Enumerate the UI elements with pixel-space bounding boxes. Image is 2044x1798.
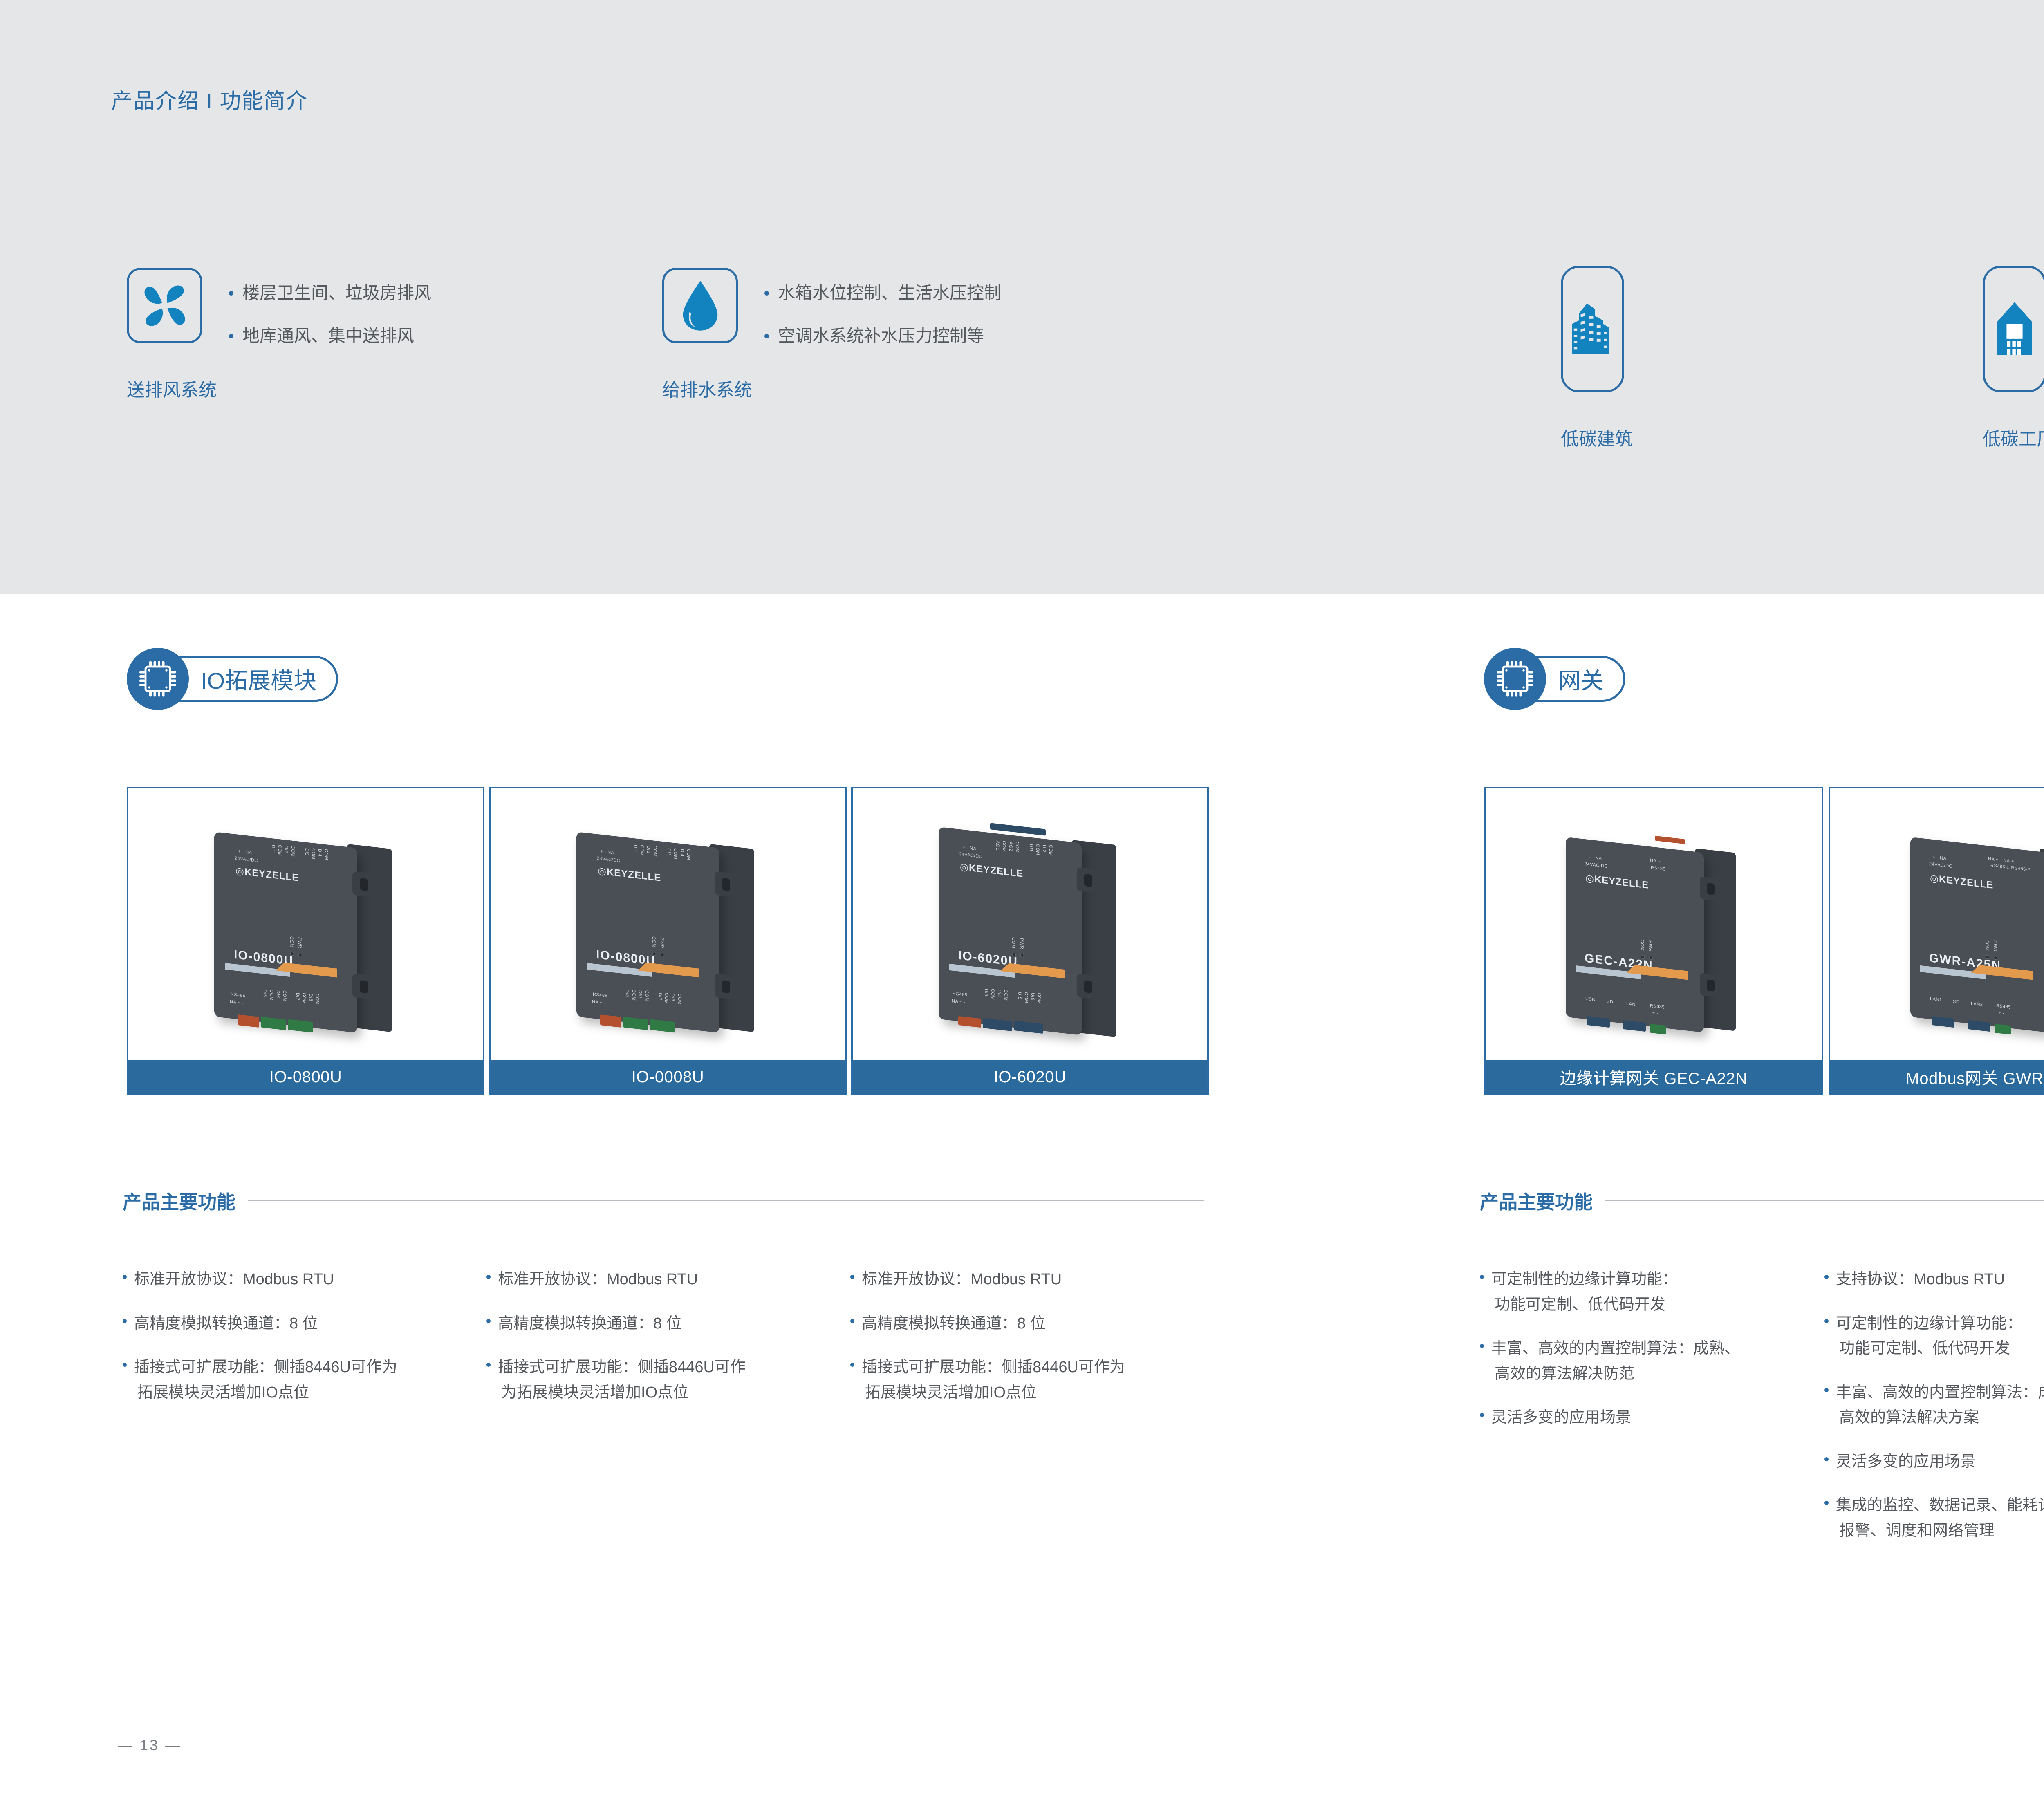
feature-item: 支持协议：Modbus RTU [1824, 1267, 2044, 1292]
application-label-factory: 低碳工厂 [1983, 424, 2044, 450]
product-label-bar: IO-6020U [853, 1060, 1207, 1094]
feature-text: 插接式可扩展功能：侧插8446U可作为拓展模块灵活增加IO点位 [862, 1355, 1125, 1405]
bullet-item: 水箱水位控制、生活水压控制 [764, 282, 1001, 304]
bullet-text: 水箱水位控制、生活水压控制 [778, 282, 1001, 304]
chip-icon-circle [1484, 648, 1546, 710]
section-title-io-module: IO拓展模块 [201, 663, 316, 696]
office-buildings-icon [1570, 298, 1616, 360]
office-buildings-icon-frame [1561, 266, 1624, 392]
fan-icon [138, 279, 191, 332]
bullet-dot-icon [764, 334, 769, 338]
product-card[interactable]: + - NA 24VAC/DC NA + - RS485 ◎KEYZELLE G… [1484, 787, 1823, 1095]
bullet-text: 楼层卫生间、垃圾房排风 [242, 282, 431, 304]
feature-item: 插接式可扩展功能：侧插8446U可作为拓展模块灵活增加IO点位 [850, 1355, 1206, 1405]
features-title-io: 产品主要功能 [123, 1187, 235, 1214]
feature-column-1: 标准开放协议：Modbus RTU 高精度模拟转换通道：8 位 插接式可扩展功能… [123, 1267, 478, 1424]
scenario-block-ventilation: 送排风系统 楼层卫生间、垃圾房排风 地库通风、集中送排风 [127, 268, 217, 401]
scenario-label-ventilation: 送排风系统 [127, 375, 217, 401]
chip-icon [138, 659, 177, 699]
page-number-left: — 13 — [118, 1737, 182, 1754]
bullet-dot-icon [1824, 1275, 1829, 1279]
bullet-item: 地库通风、集中送排风 [229, 325, 431, 347]
product-card[interactable]: + - NA 24VAC/DC NA + - NA + - RS485-1 RS… [1829, 787, 2044, 1095]
feature-item: 高精度模拟转换通道：8 位 [123, 1311, 478, 1337]
section-badge-gateway: 网关 [1484, 648, 1625, 710]
feature-text: 高精度模拟转换通道：8 位 [134, 1311, 318, 1337]
feature-item: 标准开放协议：Modbus RTU [123, 1267, 478, 1292]
product-card[interactable]: + - NA 24VAC/DC DI1 COM DI2 COM DI3 COM … [127, 787, 484, 1095]
bullet-dot-icon [123, 1319, 127, 1323]
section-title-gateway: 网关 [1558, 663, 1604, 696]
fan-icon-frame [127, 268, 202, 343]
scenario-bullets-ventilation: 楼层卫生间、垃圾房排风 地库通风、集中送排风 [229, 282, 431, 368]
feature-text: 插接式可扩展功能：侧插8446U可作为拓展模块灵活增加IO点位 [134, 1355, 397, 1405]
feature-text: 灵活多变的应用场景 [1836, 1449, 1976, 1475]
bullet-dot-icon [764, 291, 769, 296]
factory-icon [1992, 298, 2037, 360]
product-image-gec-a22n: + - NA 24VAC/DC NA + - RS485 ◎KEYZELLE G… [1486, 788, 1822, 1060]
feature-column-2: 标准开放协议：Modbus RTU 高精度模拟转换通道：8 位 插接式可扩展功能… [486, 1267, 842, 1424]
bullet-dot-icon [1480, 1344, 1484, 1348]
bullet-dot-icon [486, 1363, 491, 1367]
bullet-dot-icon [1824, 1388, 1829, 1392]
bullet-dot-icon [850, 1275, 854, 1279]
factory-icon-frame [1983, 266, 2044, 392]
feature-text: 可定制性的边缘计算功能：功能可定制、低代码开发 [1836, 1311, 2022, 1361]
feature-column-gw-2: 支持协议：Modbus RTU 可定制性的边缘计算功能：功能可定制、低代码开发 … [1824, 1267, 2044, 1562]
water-drop-icon-frame [662, 268, 738, 343]
scenario-block-water: 给排水系统 水箱水位控制、生活水压控制 空调水系统补水压力控制等 [662, 268, 752, 401]
feature-column-3: 标准开放协议：Modbus RTU 高精度模拟转换通道：8 位 插接式可扩展功能… [850, 1267, 1206, 1424]
bullet-dot-icon [123, 1363, 127, 1367]
section-badge-io-module: IO拓展模块 [127, 648, 338, 710]
product-image-io0800u: + - NA 24VAC/DC DI1 COM DI2 COM DI3 COM … [128, 788, 483, 1060]
feature-text: 标准开放协议：Modbus RTU [498, 1267, 698, 1292]
bullet-dot-icon [486, 1319, 491, 1323]
feature-text: 标准开放协议：Modbus RTU [134, 1267, 334, 1292]
feature-item: 可定制性的边缘计算功能： 功能可定制、低代码开发 [1480, 1267, 1819, 1317]
bullet-dot-icon [1480, 1413, 1484, 1417]
bullet-dot-icon [229, 334, 233, 338]
product-card[interactable]: + - NA 24VAC/DC AO1 COM AO2 COM UI1 COM … [851, 787, 1209, 1095]
feature-text: 标准开放协议：Modbus RTU [862, 1267, 1062, 1292]
scenario-bullets-water: 水箱水位控制、生活水压控制 空调水系统补水压力控制等 [764, 282, 1001, 368]
feature-item: 标准开放协议：Modbus RTU [850, 1267, 1206, 1292]
feature-item: 可定制性的边缘计算功能：功能可定制、低代码开发 [1824, 1311, 2044, 1361]
product-label-bar: Modbus网关 GWR-A25N [1830, 1060, 2044, 1094]
feature-text: 可定制性的边缘计算功能： 功能可定制、低代码开发 [1491, 1267, 1678, 1317]
feature-column-gw-1: 可定制性的边缘计算功能： 功能可定制、低代码开发 丰富、高效的内置控制算法：成熟… [1480, 1267, 1819, 1449]
bullet-item: 楼层卫生间、垃圾房排风 [229, 282, 431, 304]
product-image-io0008u: + - NA 24VAC/DC DI1 COM DI2 COM DI3 COM … [491, 788, 845, 1060]
bullet-text: 空调水系统补水压力控制等 [778, 325, 984, 347]
bullet-dot-icon [1824, 1319, 1829, 1323]
feature-item: 丰富、高效的内置控制算法：成熟、高效的算法解决方案 [1824, 1380, 2044, 1431]
bullet-dot-icon [1824, 1501, 1829, 1505]
product-label-bar: IO-0008U [491, 1060, 845, 1094]
feature-item: 丰富、高效的内置控制算法：成熟、高效的算法解决防范 [1480, 1336, 1819, 1386]
bullet-dot-icon [123, 1275, 127, 1279]
application-block-building: 低碳建筑 [1561, 266, 1624, 450]
scenario-label-water: 给排水系统 [662, 375, 752, 401]
bullet-dot-icon [850, 1319, 854, 1323]
feature-text: 丰富、高效的内置控制算法：成熟、高效的算法解决方案 [1836, 1380, 2044, 1431]
product-label-bar: 边缘计算网关 GEC-A22N [1486, 1060, 1822, 1094]
feature-text: 集成的监控、数据记录、能耗计量、报警、调度和网络管理 [1836, 1493, 2044, 1543]
product-label-bar: IO-0800U [128, 1060, 483, 1094]
feature-item: 高精度模拟转换通道：8 位 [850, 1311, 1206, 1337]
bullet-dot-icon [1824, 1457, 1829, 1461]
feature-text: 高精度模拟转换通道：8 位 [862, 1311, 1046, 1337]
feature-text: 高精度模拟转换通道：8 位 [498, 1311, 682, 1337]
feature-item: 灵活多变的应用场景 [1480, 1405, 1819, 1431]
features-header-io: 产品主要功能 [123, 1187, 1210, 1214]
feature-item: 高精度模拟转换通道：8 位 [486, 1311, 842, 1337]
features-title-gateway: 产品主要功能 [1480, 1187, 1593, 1214]
chip-icon-circle [127, 648, 189, 710]
application-label-building: 低碳建筑 [1561, 424, 1624, 450]
feature-item: 标准开放协议：Modbus RTU [486, 1267, 842, 1292]
features-header-gateway: 产品主要功能 [1480, 1187, 2044, 1214]
bullet-item: 空调水系统补水压力控制等 [764, 325, 1001, 347]
bullet-dot-icon [486, 1275, 491, 1279]
bullet-dot-icon [1480, 1275, 1484, 1279]
feature-text: 支持协议：Modbus RTU [1836, 1267, 2005, 1292]
feature-text: 插接式可扩展功能：侧插8446U可作为拓展模块灵活增加IO点位 [498, 1355, 746, 1405]
features-divider [248, 1200, 1204, 1201]
product-card[interactable]: + - NA 24VAC/DC DI1 COM DI2 COM DI3 COM … [489, 787, 847, 1095]
application-block-factory: 低碳工厂 [1983, 266, 2044, 450]
feature-text: 灵活多变的应用场景 [1491, 1405, 1631, 1431]
bullet-dot-icon [850, 1363, 854, 1367]
product-image-io6020u: + - NA 24VAC/DC AO1 COM AO2 COM UI1 COM … [853, 788, 1207, 1060]
feature-item: 灵活多变的应用场景 [1824, 1449, 2044, 1475]
chip-icon [1495, 659, 1535, 699]
features-divider [1605, 1200, 2044, 1201]
feature-item: 插接式可扩展功能：侧插8446U可作为拓展模块灵活增加IO点位 [486, 1355, 842, 1405]
bullet-dot-icon [229, 291, 233, 296]
feature-item: 集成的监控、数据记录、能耗计量、报警、调度和网络管理 [1824, 1493, 2044, 1543]
bullet-text: 地库通风、集中送排风 [242, 325, 414, 347]
feature-item: 插接式可扩展功能：侧插8446U可作为拓展模块灵活增加IO点位 [123, 1355, 478, 1405]
page-header-left: 产品介绍 I 功能简介 [111, 84, 308, 114]
water-drop-icon [677, 279, 723, 333]
product-image-gwr-a25n: + - NA 24VAC/DC NA + - NA + - RS485-1 RS… [1830, 788, 2044, 1060]
feature-text: 丰富、高效的内置控制算法：成熟、高效的算法解决防范 [1491, 1336, 1740, 1386]
